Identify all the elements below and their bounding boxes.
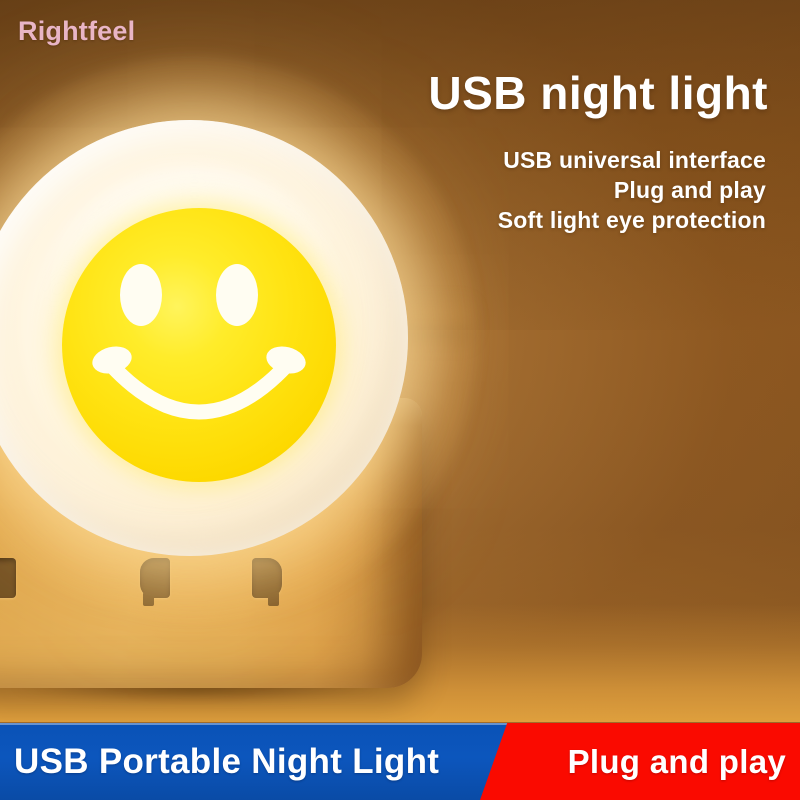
feature-item-3: Soft light eye protection (498, 205, 766, 235)
smiley-mouth-icon (62, 208, 336, 482)
banner-primary-label: USB Portable Night Light (14, 742, 439, 782)
feature-item-2: Plug and play (498, 175, 766, 205)
socket-outlet-hole-3 (252, 558, 282, 598)
socket-outlet-hole-2 (140, 558, 170, 598)
smiley-face-icon (62, 208, 336, 482)
page-title: USB night light (428, 66, 768, 120)
bottom-banner: USB Portable Night Light Plug and play (0, 723, 800, 800)
feature-item-1: USB universal interface (498, 145, 766, 175)
brand-watermark: Rightfeel (18, 16, 135, 47)
feature-list: USB universal interface Plug and play So… (498, 145, 766, 235)
socket-outlet-hole-1 (0, 558, 16, 598)
product-image-canvas: Rightfeel USB night light USB universal … (0, 0, 800, 800)
banner-secondary-label: Plug and play (568, 743, 786, 781)
